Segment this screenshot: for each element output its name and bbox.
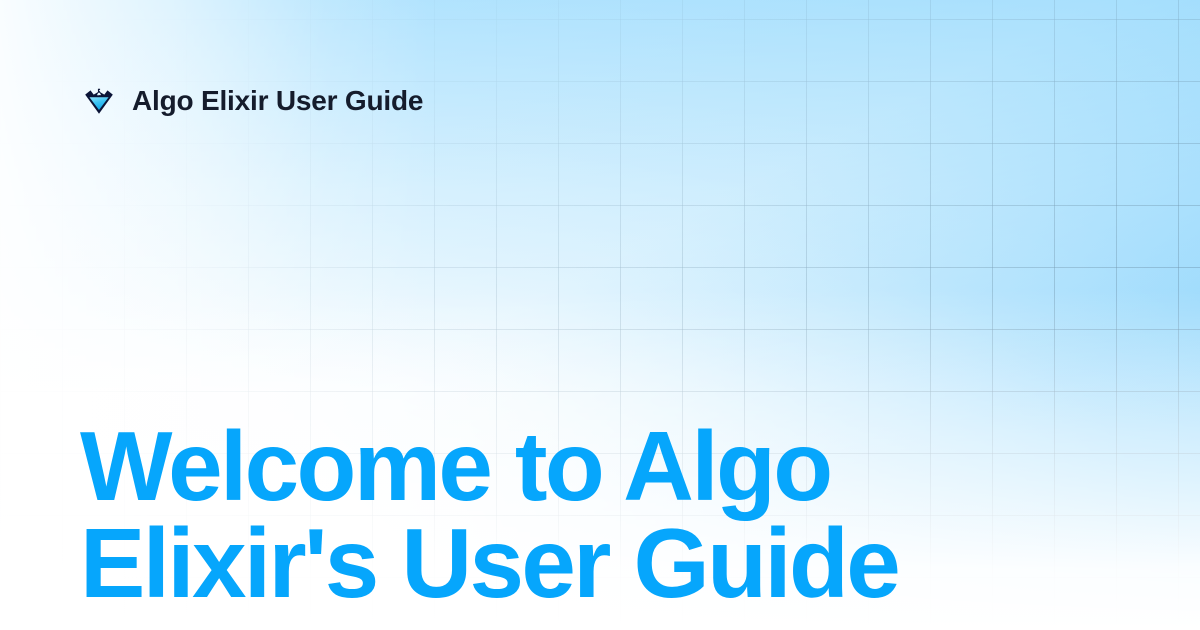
page-title: Welcome to Algo Elixir's User Guide xyxy=(80,418,1080,612)
brand-header: Algo Elixir User Guide xyxy=(82,84,423,118)
brand-title: Algo Elixir User Guide xyxy=(132,87,423,115)
og-card: Algo Elixir User Guide Welcome to Algo E… xyxy=(0,0,1200,630)
diamond-gem-icon xyxy=(82,84,116,118)
